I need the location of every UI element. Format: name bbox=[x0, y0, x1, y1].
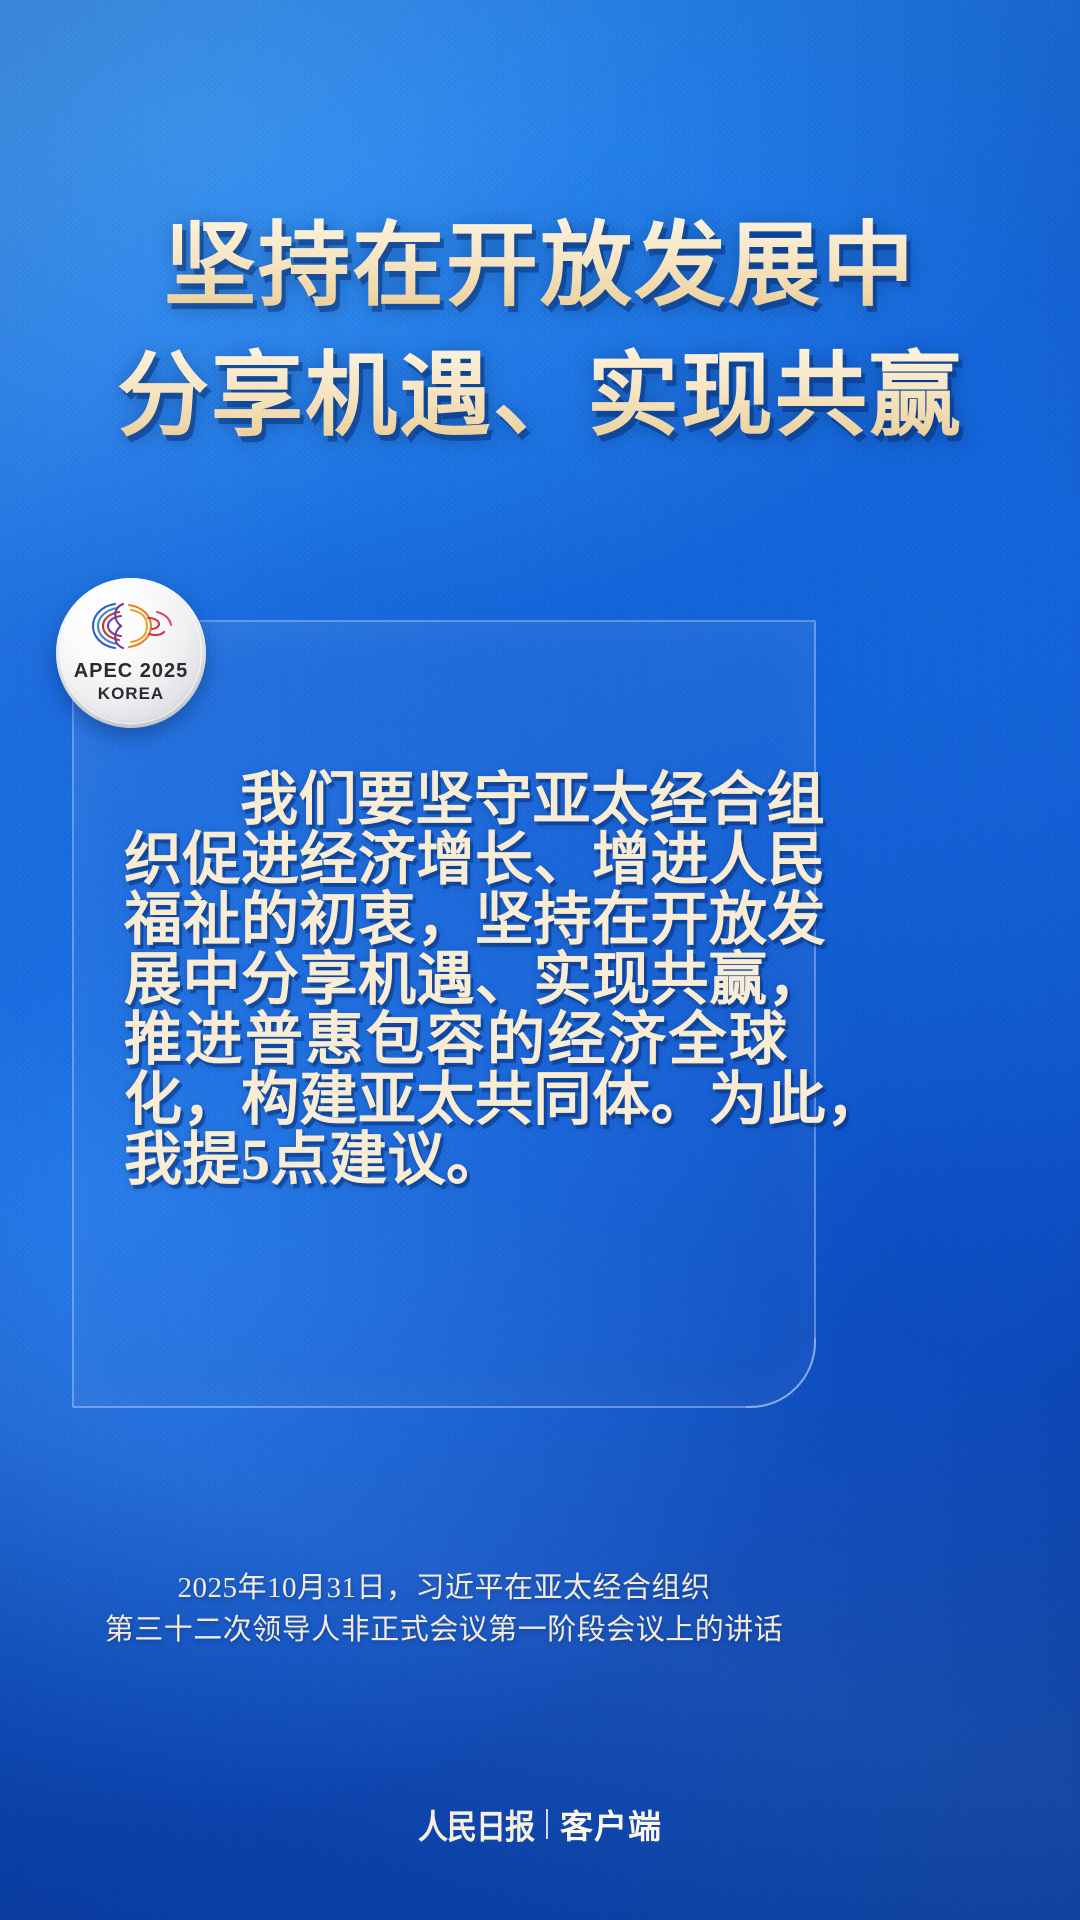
footer-branding: 人民日报 客户端 bbox=[0, 1800, 1080, 1848]
attribution-line-1: 2025年10月31日，习近平在亚太经合组织 bbox=[72, 1567, 816, 1609]
apec-wave-face-icon bbox=[85, 598, 177, 654]
quote-line: 织促进经济增长、增进人民 bbox=[124, 830, 772, 890]
badge-title: APEC 2025 bbox=[56, 660, 206, 683]
client-app-label: 客户端 bbox=[560, 1800, 662, 1848]
peoples-daily-masthead: 人民日报 bbox=[418, 1799, 534, 1848]
quote-attribution: 2025年10月31日，习近平在亚太经合组织 第三十二次领导人非正式会议第一阶段… bbox=[72, 1567, 816, 1651]
quote-line: 我们要坚守亚太经合组 bbox=[124, 770, 772, 830]
quote-line: 展中分享机遇、实现共赢， bbox=[124, 950, 772, 1010]
quote-text-block: 我们要坚守亚太经合组 织促进经济增长、增进人民 福祉的初衷，坚持在开放发 展中分… bbox=[124, 770, 772, 1190]
headline-line-2: 分享机遇、实现共赢 bbox=[0, 344, 1080, 448]
quote-line: 推进普惠包容的经济全球 bbox=[124, 1010, 772, 1070]
apec-logo-badge: APEC 2025 KOREA bbox=[56, 578, 206, 728]
headline-line-1: 坚持在开放发展中 bbox=[0, 214, 1080, 318]
quote-line: 福祉的初衷，坚持在开放发 bbox=[124, 890, 772, 950]
quote-line: 我提5点建议。 bbox=[124, 1130, 772, 1190]
attribution-line-2: 第三十二次领导人非正式会议第一阶段会议上的讲话 bbox=[72, 1609, 816, 1651]
quote-line: 化，构建亚太共同体。为此， bbox=[124, 1070, 772, 1130]
poster-root: 坚持在开放发展中 分享机遇、实现共赢 APEC 2025 KOREA 我们要 bbox=[0, 0, 1080, 1920]
badge-subtitle: KOREA bbox=[56, 684, 206, 704]
page-title: 坚持在开放发展中 分享机遇、实现共赢 bbox=[0, 214, 1080, 448]
footer-divider bbox=[546, 1809, 548, 1839]
